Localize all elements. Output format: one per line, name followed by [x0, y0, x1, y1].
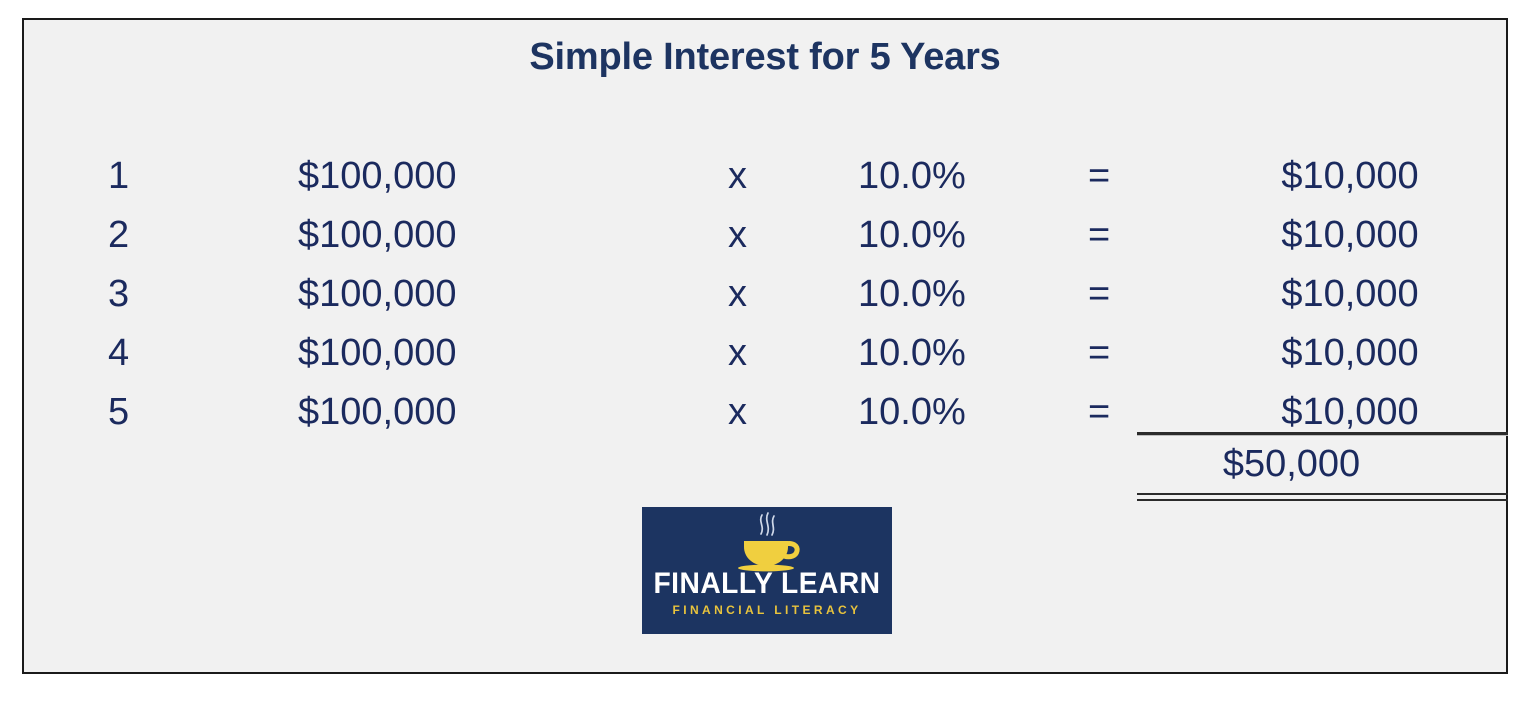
table-row: 3 $100,000 x 10.0% = $10,000	[24, 265, 1506, 324]
row-interest: $10,000	[1278, 324, 1506, 383]
row-year: 1	[24, 147, 298, 206]
equals-operator: =	[1088, 265, 1278, 324]
table-row: 4 $100,000 x 10.0% = $10,000	[24, 324, 1506, 383]
row-principal: $100,000	[298, 383, 728, 442]
slide-frame: Simple Interest for 5 Years 1 $100,000 x…	[22, 18, 1508, 674]
table-row: 2 $100,000 x 10.0% = $10,000	[24, 206, 1506, 265]
multiply-operator: x	[728, 147, 858, 206]
row-year: 4	[24, 324, 298, 383]
multiply-operator: x	[728, 265, 858, 324]
total-rule-bottom	[1137, 493, 1508, 501]
total-interest-value: $50,000	[1137, 436, 1508, 493]
equals-operator: =	[1088, 206, 1278, 265]
row-year: 5	[24, 383, 298, 442]
row-interest: $10,000	[1278, 265, 1506, 324]
row-rate: 10.0%	[858, 383, 1088, 442]
coffee-cup-icon	[642, 511, 892, 573]
table-row: 1 $100,000 x 10.0% = $10,000	[24, 147, 1506, 206]
multiply-operator: x	[728, 324, 858, 383]
multiply-operator: x	[728, 383, 858, 442]
simple-interest-table: 1 $100,000 x 10.0% = $10,000 2 $100,000 …	[24, 147, 1506, 442]
row-interest: $10,000	[1278, 206, 1506, 265]
row-principal: $100,000	[298, 324, 728, 383]
logo-tagline: FINANCIAL LITERACY	[642, 603, 892, 617]
logo-wordmark: FINALLY LEARN	[650, 567, 885, 601]
row-year: 3	[24, 265, 298, 324]
page-title: Simple Interest for 5 Years	[24, 36, 1506, 79]
multiply-operator: x	[728, 206, 858, 265]
row-year: 2	[24, 206, 298, 265]
row-principal: $100,000	[298, 147, 728, 206]
row-rate: 10.0%	[858, 206, 1088, 265]
equals-operator: =	[1088, 147, 1278, 206]
brand-logo: FINALLY LEARN FINANCIAL LITERACY	[642, 507, 892, 634]
row-principal: $100,000	[298, 206, 728, 265]
row-interest: $10,000	[1278, 147, 1506, 206]
row-rate: 10.0%	[858, 265, 1088, 324]
row-principal: $100,000	[298, 265, 728, 324]
total-block: $50,000	[1137, 432, 1508, 501]
row-rate: 10.0%	[858, 147, 1088, 206]
equals-operator: =	[1088, 324, 1278, 383]
row-rate: 10.0%	[858, 324, 1088, 383]
